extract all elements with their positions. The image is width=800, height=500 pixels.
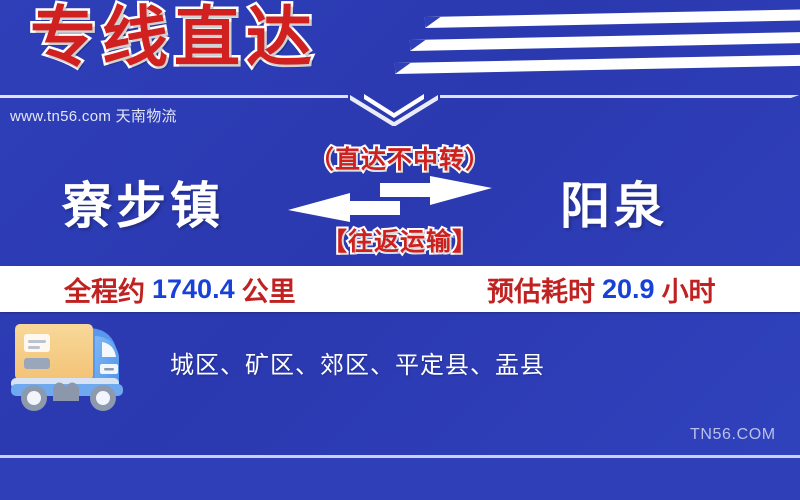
chevron-down-icon xyxy=(350,92,442,126)
double-arrow-icon xyxy=(288,176,492,222)
decor-stripe-1 xyxy=(425,9,800,28)
decor-stripe-3 xyxy=(395,55,800,74)
info-band: 全程约 1740.4 公里 预估耗时 20.9 小时 xyxy=(0,266,800,312)
decor-stripe-2 xyxy=(410,32,800,51)
divider-rule-left xyxy=(0,95,348,98)
duration-info: 预估耗时 20.9 小时 xyxy=(487,266,716,312)
distance-label: 全程约 xyxy=(64,270,145,309)
site-url-label: www.tn56.com 天南物流 xyxy=(10,105,177,126)
duration-label: 预估耗时 xyxy=(487,270,595,309)
duration-value: 20.9 xyxy=(595,274,662,305)
distance-value: 1740.4 xyxy=(145,274,242,305)
coverage-area-list: 城区、矿区、郊区、平定县、盂县 xyxy=(170,345,545,380)
page-title: 专线直达 xyxy=(30,4,318,70)
divider-rule-right xyxy=(440,95,800,98)
roundtrip-service-tag: 【往返运输】 xyxy=(0,222,800,258)
distance-unit: 公里 xyxy=(242,270,296,309)
truck-icon xyxy=(5,312,155,412)
footer-bar: 公司地址：物流园区（请咨询我公司客服发详细定位） xyxy=(0,458,800,500)
distance-info: 全程约 1740.4 公里 xyxy=(64,266,296,312)
watermark-label: TN56.COM xyxy=(690,426,776,444)
logistics-route-banner: 专线直达 www.tn56.com 天南物流 寮步镇 阳泉 （直达不中转） 【往… xyxy=(0,0,800,500)
duration-unit: 小时 xyxy=(662,270,716,309)
direct-service-tag: （直达不中转） xyxy=(0,140,800,176)
